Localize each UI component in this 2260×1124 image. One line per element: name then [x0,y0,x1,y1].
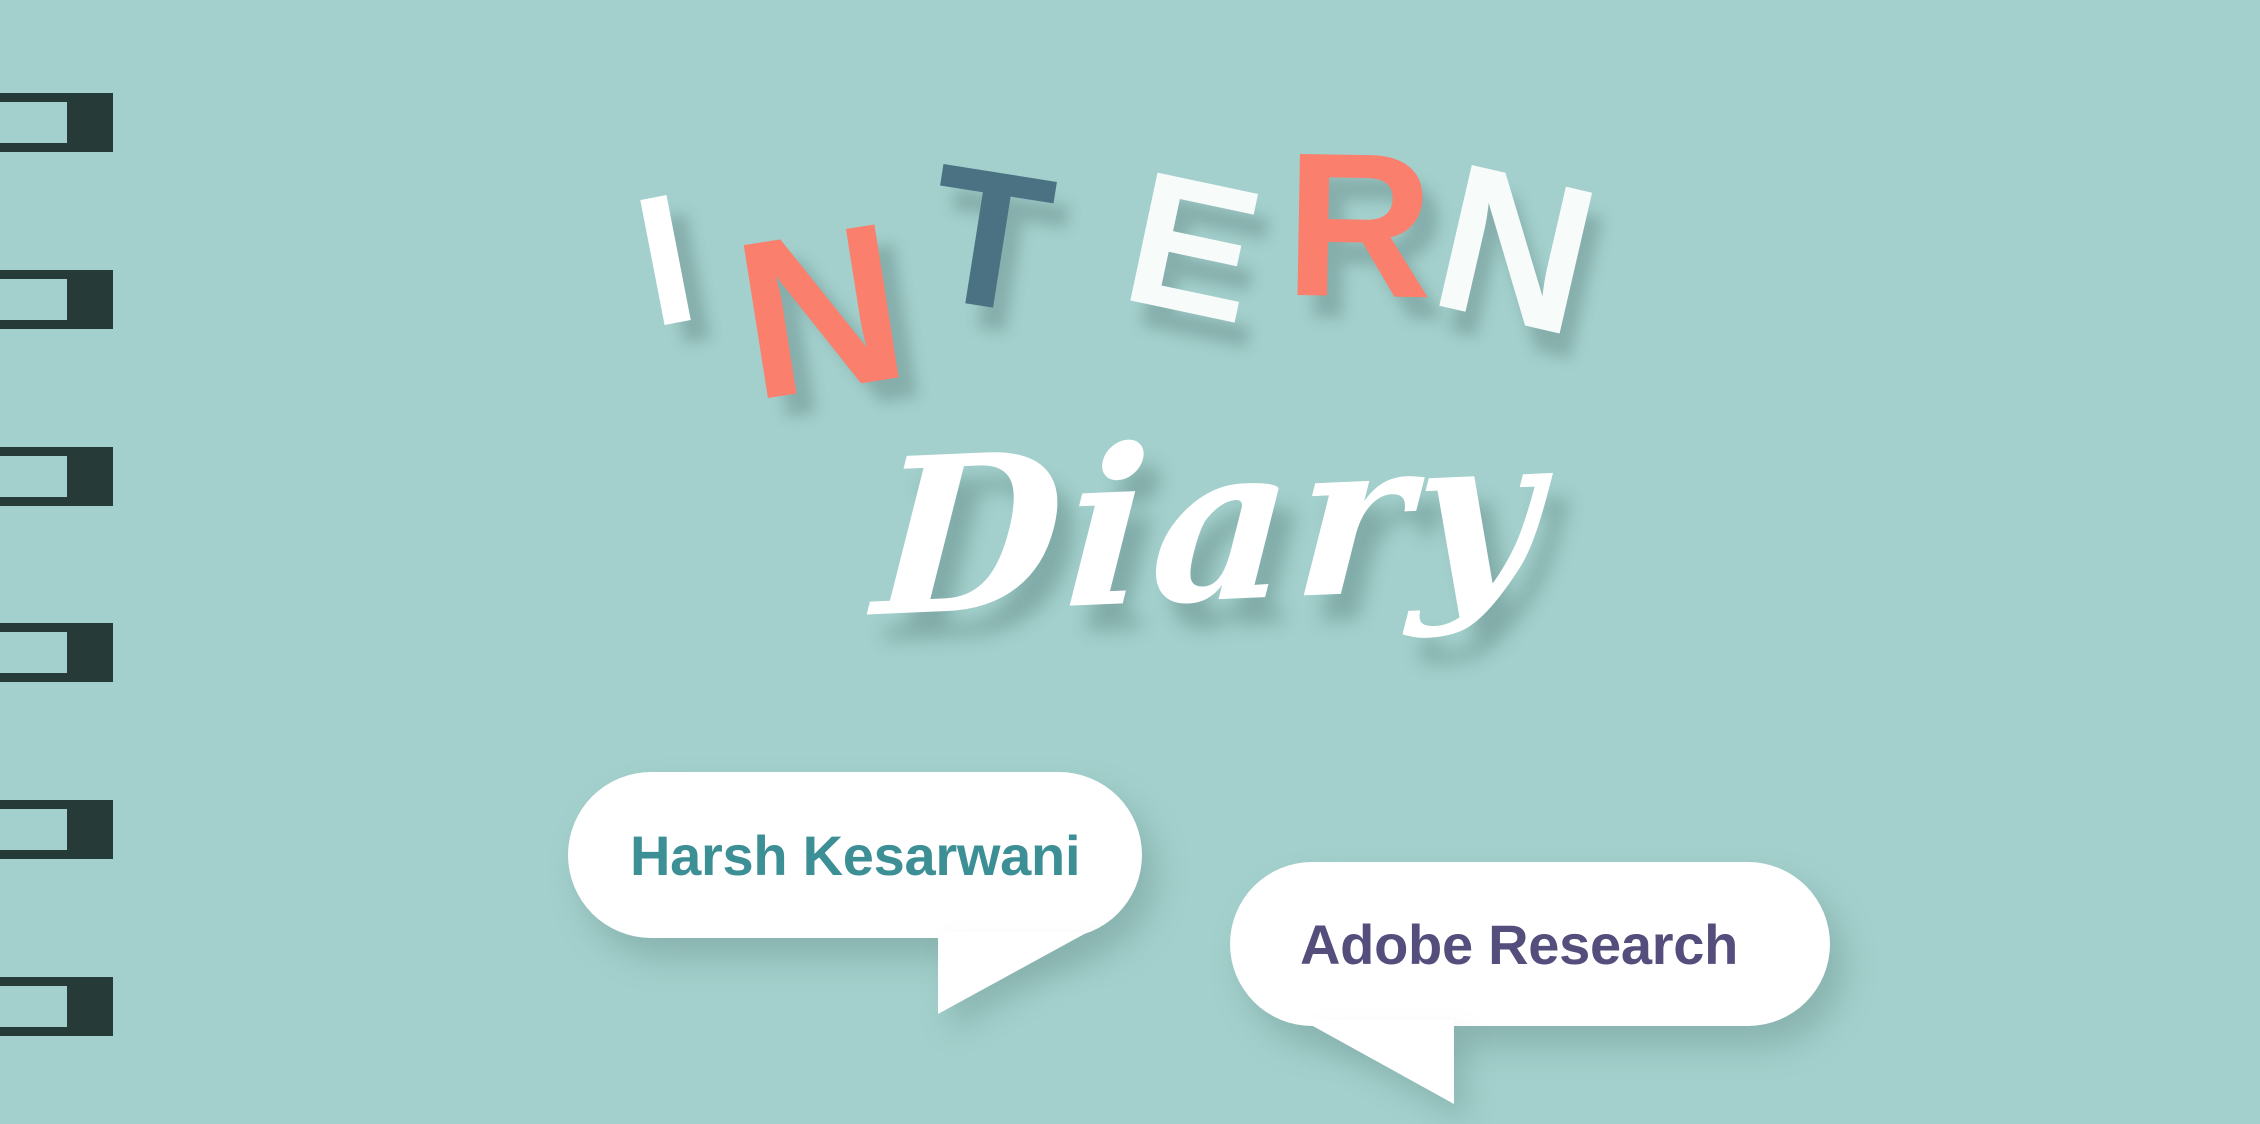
title-letter-e: E [1113,149,1270,346]
name-bubble-tail [938,932,1088,1014]
title-intern: I N T E R N [0,0,2260,1124]
organization-bubble-tail [1302,1020,1454,1104]
title-letter-t: T [917,142,1059,337]
title-letter-n2: N [1420,138,1607,359]
title-letter-r: R [1283,131,1430,322]
title-letter-n1: N [725,197,913,426]
title-diary-script: Diary [868,404,1483,681]
presenter-name: Harsh Kesarwani [630,823,1080,888]
organization-speech-bubble: Adobe Research [1230,862,1830,1026]
binding-ring [0,623,113,682]
title-letter-i: I [624,173,703,349]
slide-canvas: I N T E R N Diary Harsh Kesarwani Adobe … [0,0,2260,1124]
organization-name: Adobe Research [1300,912,1738,977]
name-speech-bubble: Harsh Kesarwani [568,772,1142,938]
binding-ring [0,800,113,859]
binding-ring [0,93,113,152]
binding-ring [0,977,113,1036]
binding-ring [0,447,113,506]
binding-ring [0,270,113,329]
